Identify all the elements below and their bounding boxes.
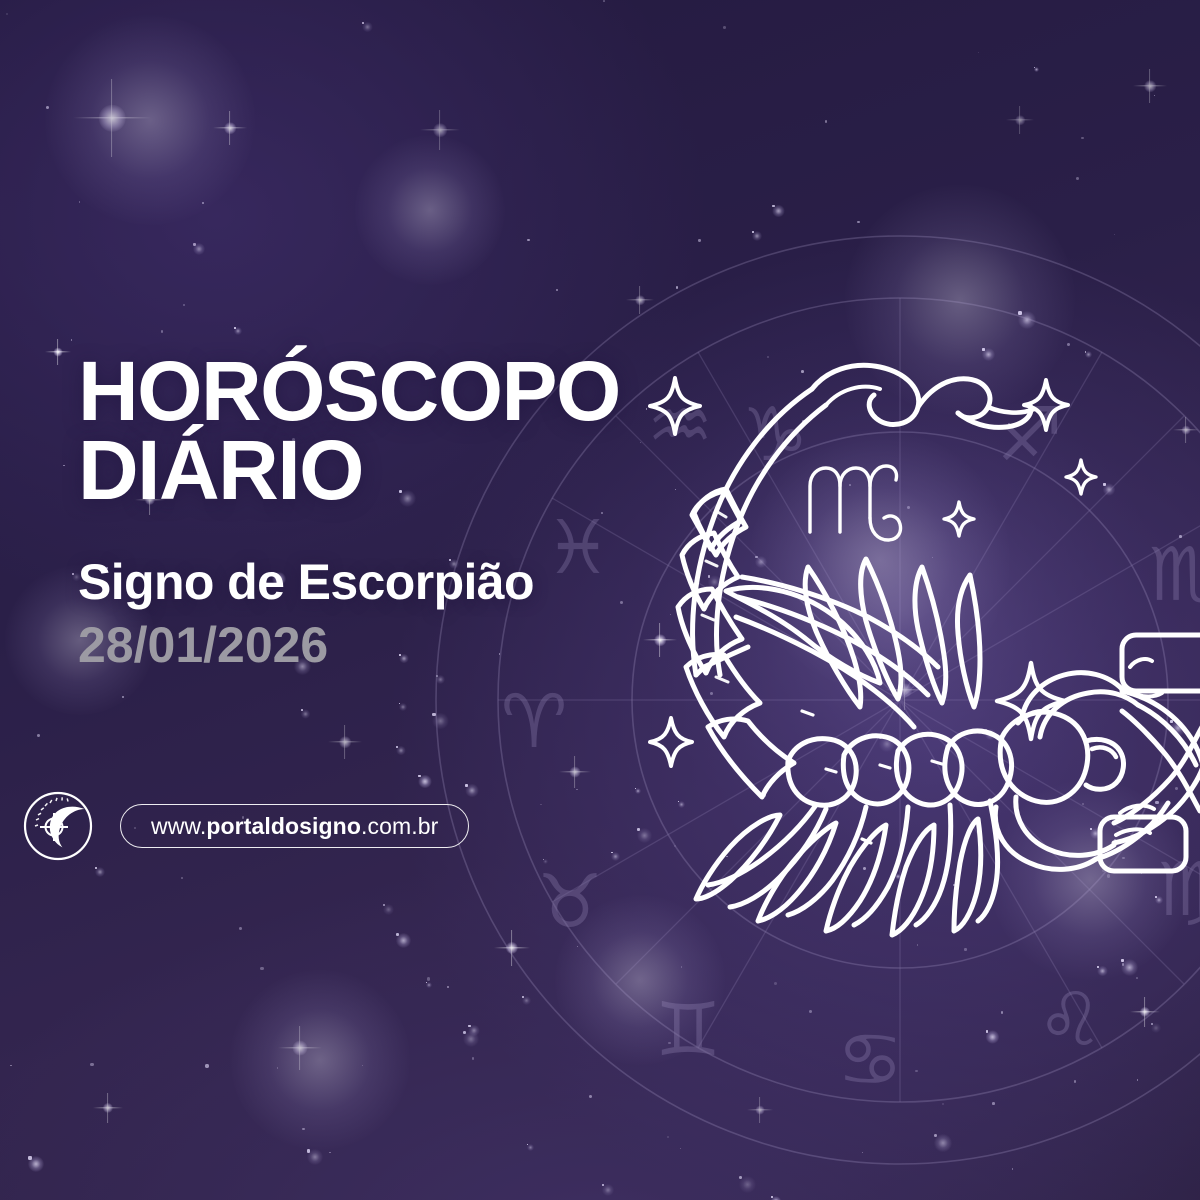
moon-crosshair-logo[interactable] [22,790,94,862]
sparkle-icon [1064,458,1098,496]
text-block: HORÓSCOPO DIÁRIO Signo de Escorpião 28/0… [78,352,698,673]
page-title: HORÓSCOPO DIÁRIO [78,352,698,510]
scorpion-illustration [630,345,1190,885]
sparkle-icon [942,500,976,538]
url-prefix: www. [151,813,206,840]
sparkle-icon [1022,378,1070,432]
wheel-glyph-leo: ♌ [1037,977,1103,1063]
url-brand: portaldosigno [206,813,361,840]
sparkle-icon [994,660,1068,742]
wheel-glyph-cancer: ♋ [837,1017,903,1103]
date-label: 28/01/2026 [78,617,698,673]
headline-line-2: DIÁRIO [78,431,698,510]
wheel-glyph-aries: ♈ [501,679,567,765]
wheel-glyph-taurus: ♉ [537,859,603,945]
sign-subtitle: Signo de Escorpião [78,556,698,609]
website-url-pill[interactable]: www.portaldosigno.com.br [120,804,469,848]
footer: www.portaldosigno.com.br [22,790,469,862]
headline-line-1: HORÓSCOPO [78,352,698,431]
horoscope-poster: ♑ ♐ ♏ ♎ ♍ ♌ ♋ ♊ ♉ ♈ ♓ ♒ [0,0,1200,1200]
sparkle-icon [648,716,694,768]
url-suffix: .com.br [361,813,438,840]
scorpio-glyph [798,440,908,550]
wheel-glyph-gemini: ♊ [655,987,721,1073]
